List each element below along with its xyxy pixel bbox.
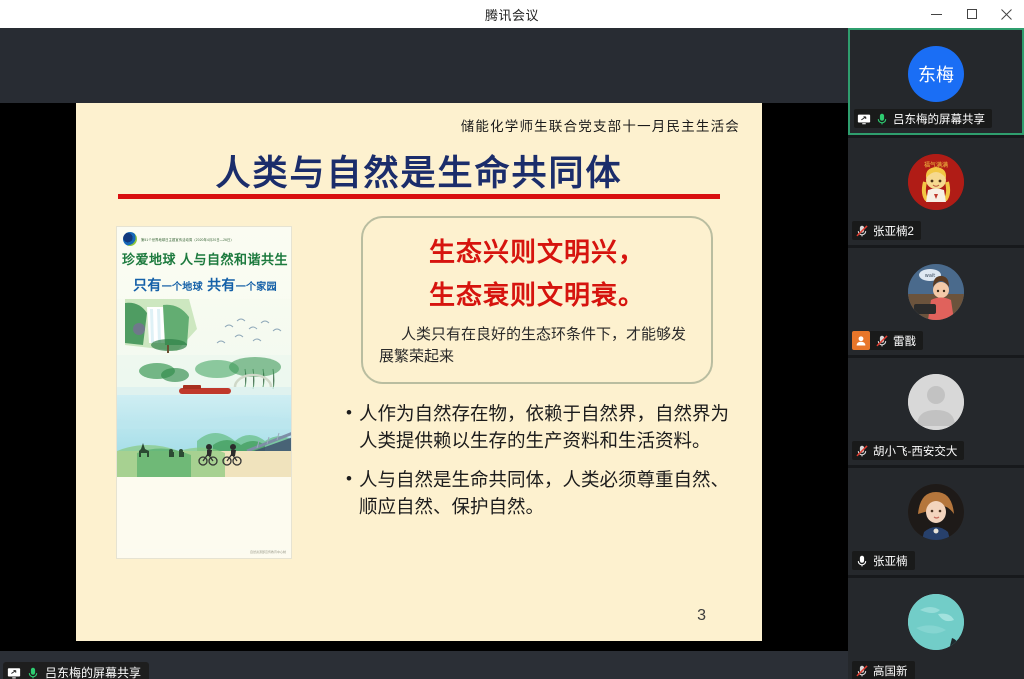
slide-header: 储能化学师生联合党支部十一月民主生活会	[461, 115, 740, 135]
poster-logo-row: 第51个世界地球日主题宣传活动周（2020年4月20日—26日）	[123, 232, 234, 246]
avatar: wait	[908, 264, 964, 320]
bullet-text: 人作为自然存在物，依赖于自然界，自然界为人类提供赖以生存的生产资料和生活资料。	[359, 400, 738, 454]
list-item: • 人作为自然存在物，依赖于自然界，自然界为人类提供赖以生存的生产资料和生活资料…	[346, 400, 738, 454]
participant-name: 张亚楠	[873, 553, 908, 569]
mic-on-icon	[26, 666, 40, 679]
svg-text:wait: wait	[925, 273, 936, 279]
slide-title-underline	[118, 194, 720, 199]
participant-name: 胡小飞-西安交大	[873, 443, 957, 459]
participant-name: 高国新	[873, 663, 908, 679]
participant-tile-5[interactable]: 高国新	[848, 578, 1024, 679]
poster-sub-b: 一个地球	[162, 282, 203, 293]
bullet-marker: •	[346, 400, 352, 454]
poster-sub-d: 一个家园	[236, 282, 277, 293]
close-icon	[1001, 9, 1012, 20]
avatar: 东梅	[908, 46, 964, 102]
participant-rail[interactable]: 东梅 吕东梅的屏幕共享 福气满满	[848, 28, 1024, 679]
avatar-cartoon-icon: 福气满满	[908, 154, 964, 210]
earth-day-poster: 第51个世界地球日主题宣传活动周（2020年4月20日—26日） 珍爱地球 人与…	[116, 226, 292, 559]
participant-name: 雷戬	[893, 333, 916, 349]
shared-screen-stage[interactable]: 储能化学师生联合党支部十一月民主生活会 人类与自然是生命共同体 第51个世界地球…	[0, 28, 848, 679]
poster-landscape-illustration	[117, 299, 292, 549]
mic-off-icon	[875, 334, 889, 348]
minimize-icon	[931, 14, 942, 15]
screen-share-status-label: 吕东梅的屏幕共享	[3, 662, 149, 679]
earth-day-logo-icon	[123, 232, 137, 246]
slide-quote-box: 生态兴则文明兴， 生态衰则文明衰。 人类只有在良好的生态环条件下，才能够发展繁荣…	[361, 216, 713, 384]
avatar: 福气满满	[908, 154, 964, 210]
avatar	[908, 594, 964, 650]
participant-badge-4: 张亚楠	[852, 551, 915, 570]
window-title: 腾讯会议	[485, 5, 539, 24]
avatar-initials: 东梅	[918, 61, 954, 87]
close-button[interactable]	[989, 0, 1024, 28]
window-controls	[919, 0, 1024, 28]
share-label-text: 吕东梅的屏幕共享	[45, 664, 141, 679]
participant-tile-1[interactable]: 福气满满 张亚楠2	[848, 138, 1024, 245]
participant-tile-3[interactable]: 胡小飞-西安交大	[848, 358, 1024, 465]
mic-off-icon	[855, 224, 869, 238]
title-bar: 腾讯会议	[0, 0, 1024, 28]
quote-line-1: 生态兴则文明兴，	[363, 232, 711, 269]
participant-badge-5: 高国新	[852, 661, 915, 679]
participant-tile-4[interactable]: 张亚楠	[848, 468, 1024, 575]
quote-subtext: 人类只有在良好的生态环条件下，才能够发展繁荣起来	[379, 324, 695, 368]
bullet-marker: •	[346, 466, 352, 520]
presentation-slide: 储能化学师生联合党支部十一月民主生活会 人类与自然是生命共同体 第51个世界地球…	[76, 103, 762, 641]
host-badge	[852, 331, 870, 350]
stage-top-band	[0, 28, 848, 103]
mic-on-icon	[875, 112, 889, 126]
avatar-portrait-icon	[908, 484, 964, 540]
avatar-earth-icon	[908, 594, 964, 650]
screen-share-icon	[7, 666, 21, 679]
mic-off-icon	[855, 444, 869, 458]
participant-badge-1: 张亚楠2	[852, 221, 921, 240]
participant-name: 吕东梅的屏幕共享	[893, 111, 985, 127]
minimize-button[interactable]	[919, 0, 954, 28]
poster-sub-a: 只有	[133, 277, 162, 293]
participant-badge-3: 胡小飞-西安交大	[852, 441, 964, 460]
poster-sub-c: 共有	[203, 277, 236, 293]
avatar-photo-icon: wait	[908, 264, 964, 320]
poster-logo-caption: 第51个世界地球日主题宣传活动周（2020年4月20日—26日）	[141, 237, 234, 242]
slide-page-number: 3	[697, 607, 706, 625]
avatar	[908, 484, 964, 540]
participant-name: 张亚楠2	[873, 223, 914, 239]
slide-title: 人类与自然是生命共同体	[76, 145, 762, 196]
bullet-text: 人与自然是生命共同体，人类必须尊重自然、顺应自然、保护自然。	[359, 466, 738, 520]
slide-bullet-list: • 人作为自然存在物，依赖于自然界，自然界为人类提供赖以生存的生产资料和生活资料…	[346, 400, 738, 532]
default-user-icon	[908, 374, 964, 430]
list-item: • 人与自然是生命共同体，人类必须尊重自然、顺应自然、保护自然。	[346, 466, 738, 520]
meeting-window: 腾讯会议 储能化学师生联合党支部十一月民主生活会 人类与自然是生命共同体	[0, 0, 1024, 679]
poster-headline: 珍爱地球 人与自然和谐共生	[117, 249, 292, 268]
quote-line-2: 生态衰则文明衰。	[363, 275, 711, 312]
screen-share-icon	[857, 112, 871, 126]
participant-tile-2[interactable]: wait	[848, 248, 1024, 355]
mic-off-icon	[855, 664, 869, 678]
maximize-button[interactable]	[954, 0, 989, 28]
poster-credit: 自然资源部宣传教育中心制	[250, 550, 286, 554]
participant-tile-0[interactable]: 东梅 吕东梅的屏幕共享	[848, 28, 1024, 135]
participant-badge-2: 雷戬	[852, 331, 923, 350]
avatar	[908, 374, 964, 430]
maximize-icon	[967, 9, 977, 19]
participant-badge-0: 吕东梅的屏幕共享	[854, 109, 992, 128]
poster-subheadline: 只有一个地球 共有一个家园	[117, 275, 292, 295]
host-person-icon	[855, 335, 867, 347]
mic-on-icon	[855, 554, 869, 568]
